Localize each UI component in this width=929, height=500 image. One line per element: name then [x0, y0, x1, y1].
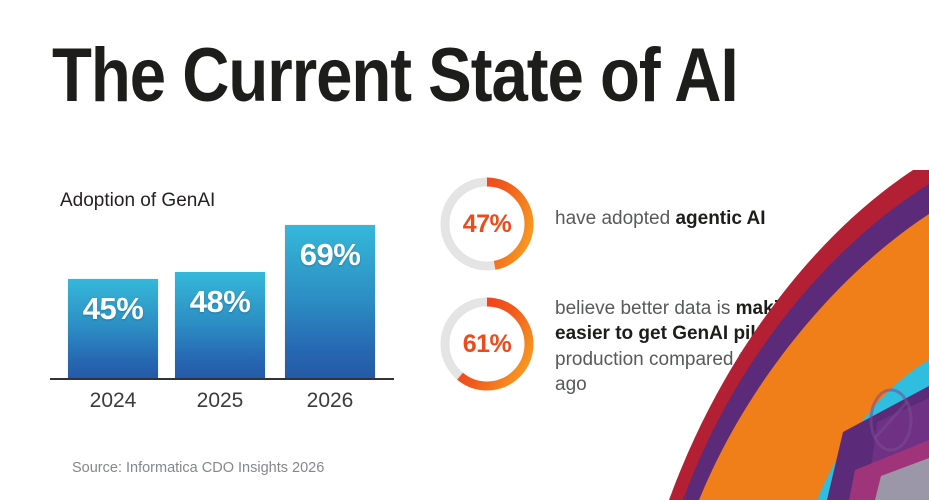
swoosh-band-cyan [817, 360, 929, 500]
stat-row-genai-pilots: 61% believe better data is making it eas… [437, 294, 827, 397]
bar-value-2024: 45% [68, 291, 158, 327]
swoosh-strip-gray [875, 458, 929, 500]
swoosh-strip-magenta [849, 440, 929, 500]
bar-label-2026: 2026 [285, 389, 375, 413]
source-note: Source: Informatica CDO Insights 2026 [72, 460, 324, 476]
bar-label-2025: 2025 [175, 389, 265, 413]
bar-chart: Adoption of GenAI 45% 2024 48% 2025 69% … [44, 190, 394, 415]
bar-2025: 48% [175, 272, 265, 379]
donut-chart-61: 61% [437, 294, 537, 394]
donut-chart-47: 47% [437, 174, 537, 274]
donut-value-47: 47% [437, 174, 537, 274]
bar-value-2025: 48% [175, 284, 265, 320]
bar-chart-title: Adoption of GenAI [60, 190, 215, 212]
bar-chart-axis-line [50, 378, 394, 380]
bar-value-2026: 69% [285, 237, 375, 273]
stat-description-agentic-ai: have adopted agentic AI [555, 174, 766, 231]
swoosh-strip-purple-light [867, 398, 929, 500]
bar-2024: 45% [68, 279, 158, 379]
swoosh-ring-motif [871, 390, 911, 450]
bar-label-2024: 2024 [68, 389, 158, 413]
stat-description-genai-pilots: believe better data is making it easier … [555, 294, 827, 397]
swoosh-ring-slash [875, 402, 907, 438]
page-title: The Current State of AI [52, 38, 738, 114]
swoosh-strip-purple [827, 386, 929, 500]
bar-2026: 69% [285, 225, 375, 379]
stat-row-agentic-ai: 47% have adopted agentic AI [437, 174, 766, 274]
donut-value-61: 61% [437, 294, 537, 394]
infographic-canvas: The Current State of AI Adoption of GenA… [0, 0, 929, 500]
